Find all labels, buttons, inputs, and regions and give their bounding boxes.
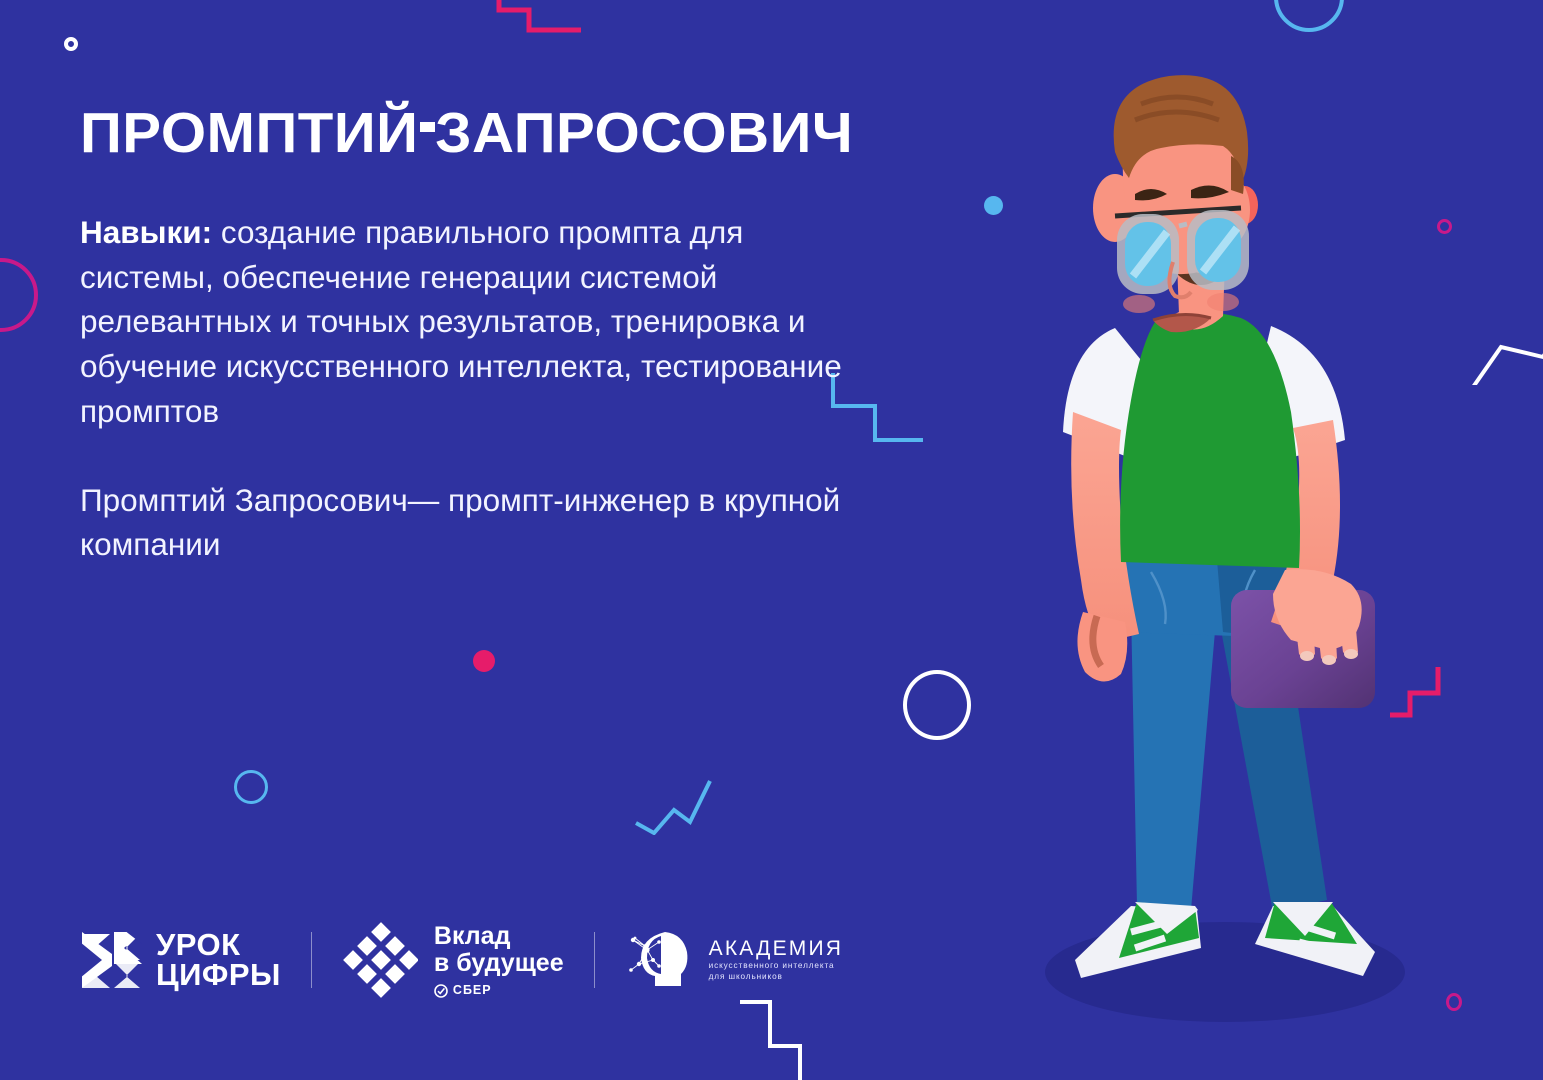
urok-line-1: УРОК xyxy=(156,930,281,960)
academy-subtitle-1: искусственного интеллекта xyxy=(709,962,844,971)
sber-check-icon xyxy=(434,984,448,998)
pink-zigzag-top xyxy=(495,0,585,47)
light-blue-ring-top-right xyxy=(1274,0,1344,32)
academy-head-network-icon xyxy=(625,930,697,990)
vklad-rhombus-mark-icon xyxy=(342,922,418,998)
logo-urok-cifry[interactable]: УРОК ЦИФРЫ xyxy=(80,930,281,990)
logo-separator-2 xyxy=(594,932,595,988)
logo-vklad-v-budushee[interactable]: Вклад в будущее СБЕР xyxy=(342,922,564,998)
light-blue-ring-bottom-left xyxy=(234,770,268,804)
text-column: ПРОМПТИЙ ЗАПРОСОВИЧ Навыки: создание пра… xyxy=(80,105,960,567)
white-zigzag-bottom xyxy=(735,990,855,1080)
pink-dot-center-left xyxy=(473,650,495,672)
vklad-line-1: Вклад xyxy=(434,923,564,950)
skills-paragraph: Навыки: создание правильного промпта для… xyxy=(80,210,880,434)
hand-left xyxy=(1077,612,1127,682)
page-title: ПРОМПТИЙ ЗАПРОСОВИЧ xyxy=(80,105,978,162)
sber-label: СБЕР xyxy=(453,984,492,998)
logo-academy-ai[interactable]: АКАДЕМИЯ искусственного интеллекта для ш… xyxy=(625,930,844,990)
academy-title: АКАДЕМИЯ xyxy=(709,938,844,960)
leg-left xyxy=(1131,608,1217,910)
footer-logo-bar: УРОК ЦИФРЫ xyxy=(80,922,843,998)
logo-separator-1 xyxy=(311,932,312,988)
light-blue-zigzag-center-bottom xyxy=(632,770,742,835)
role-paragraph: Промптий Запросович— промпт-инженер в кр… xyxy=(80,478,880,567)
white-ring-small-top-left xyxy=(64,37,78,51)
promptiy-zaprosovich-illustration xyxy=(955,60,1515,1040)
academy-subtitle-2: для школьников xyxy=(709,973,844,982)
urok-line-2: ЦИФРЫ xyxy=(156,960,281,990)
blush-right xyxy=(1207,293,1239,311)
blush-left xyxy=(1123,295,1155,313)
skills-label: Навыки: xyxy=(80,214,212,250)
pink-zigzag-bottom-left xyxy=(0,760,50,835)
vklad-line-2: в будущее xyxy=(434,950,564,977)
urok-cifry-mark-icon xyxy=(80,930,142,990)
magenta-ring-left-edge xyxy=(0,258,38,332)
slide-canvas: ПРОМПТИЙ ЗАПРОСОВИЧ Навыки: создание пра… xyxy=(0,0,1543,1080)
